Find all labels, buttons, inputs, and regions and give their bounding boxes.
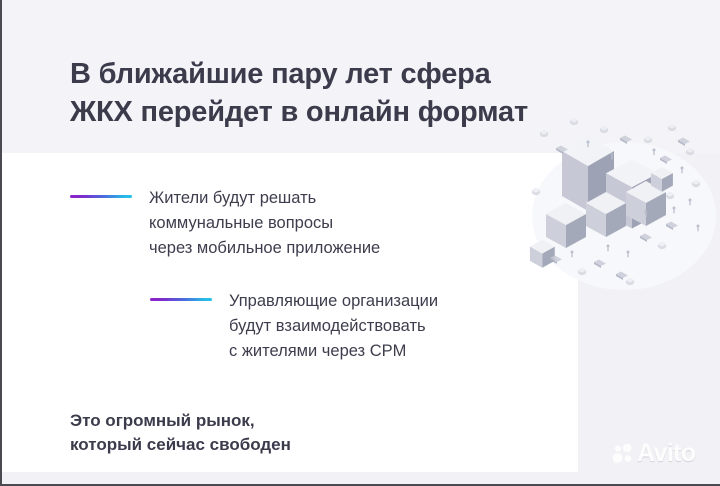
page-title: В ближайшие пару лет сфера ЖКХ перейдет … — [70, 55, 660, 131]
list-item: Жители будут решать коммунальные вопросы… — [70, 186, 380, 261]
closing-statement: Это огромный рынок, который сейчас свобо… — [70, 409, 291, 457]
bullet-text: Управляющие организации будут взаимодейс… — [229, 289, 438, 364]
slide-canvas: В ближайшие пару лет сфера ЖКХ перейдет … — [0, 0, 720, 486]
avito-wordmark: Avito — [637, 441, 696, 466]
avito-dots-logo-icon — [612, 443, 634, 465]
gradient-dash-icon — [150, 298, 212, 301]
gradient-dash-icon — [70, 195, 132, 198]
list-item: Управляющие организации будут взаимодейс… — [150, 289, 438, 364]
bullet-text: Жители будут решать коммунальные вопросы… — [149, 186, 380, 261]
avito-watermark: Avito — [612, 441, 696, 466]
